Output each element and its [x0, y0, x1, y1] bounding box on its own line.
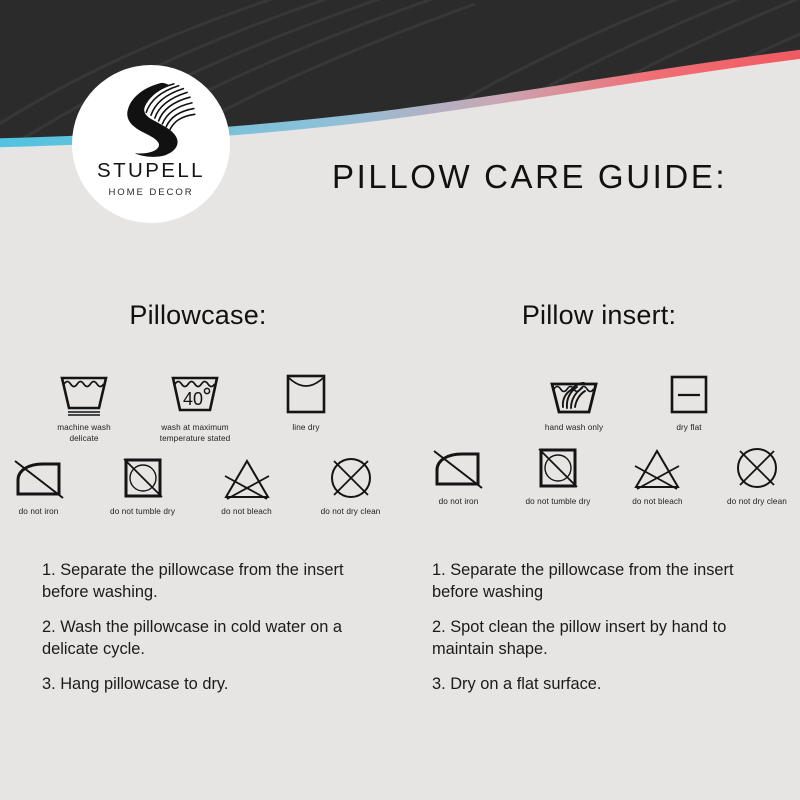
line-dry-icon: line dry: [267, 372, 345, 434]
do-not-tumble-dry-icon: do not tumble dry: [515, 446, 601, 508]
do-not-iron-icon: do not iron: [422, 446, 495, 508]
do-not-iron-glyph: [13, 456, 65, 500]
do-not-bleach-glyph: [633, 446, 681, 490]
list-item: 3. Hang pillowcase to dry.: [42, 674, 392, 696]
pillow-insert-icon-row-1: hand wash only dry flat: [400, 372, 800, 434]
do-not-bleach-caption: do not bleach: [221, 507, 271, 518]
machine-wash-delicate-icon: machine washdelicate: [45, 372, 123, 444]
list-item: 3. Dry on a flat surface.: [432, 674, 772, 696]
brand-name: STUPELL: [97, 161, 205, 182]
do-not-tumble-dry-caption: do not tumble dry: [110, 507, 175, 518]
do-not-tumble-dry-glyph: [121, 456, 165, 500]
hand-wash-only-icon: hand wash only: [528, 372, 620, 434]
pillowcase-section: Pillowcase: machine washdelicate: [0, 300, 400, 518]
wash-max-temperature-caption: wash at maximumtemperature stated: [160, 423, 231, 444]
pillowcase-icon-row-2: do not iron do not tumble dry: [0, 456, 400, 518]
dry-flat-caption: dry flat: [676, 423, 701, 434]
hand-wash-only-caption: hand wash only: [545, 423, 603, 434]
dry-flat-icon: dry flat: [650, 372, 728, 434]
pillowcase-steps-list: 1. Separate the pillowcase from the inse…: [42, 560, 392, 696]
wash-40-degree-glyph: 40: [169, 372, 221, 416]
brand-logo-badge: STUPELL HOME DECOR: [72, 65, 230, 223]
do-not-iron-caption: do not iron: [19, 507, 59, 518]
line-dry-caption: line dry: [292, 423, 319, 434]
pillowcase-heading: Pillowcase:: [0, 300, 400, 340]
dry-flat-glyph: [668, 372, 710, 416]
list-item: 2. Wash the pillowcase in cold water on …: [42, 617, 392, 661]
do-not-dry-clean-glyph: [328, 456, 374, 500]
hand-wash-only-glyph: [548, 372, 600, 416]
do-not-dry-clean-icon: do not dry clean: [714, 446, 800, 508]
do-not-dry-clean-icon: do not dry clean: [305, 456, 396, 518]
pillow-insert-heading: Pillow insert:: [400, 300, 800, 340]
do-not-iron-glyph: [432, 446, 484, 490]
do-not-iron-caption: do not iron: [439, 497, 479, 508]
pillowcase-icon-row-1: machine washdelicate 40 wash at maximumt…: [0, 372, 400, 444]
list-item: 1. Separate the pillowcase from the inse…: [42, 560, 392, 604]
do-not-dry-clean-caption: do not dry clean: [321, 507, 381, 518]
do-not-tumble-dry-icon: do not tumble dry: [97, 456, 188, 518]
do-not-bleach-glyph: [223, 456, 271, 500]
pillow-care-guide-page: STUPELL HOME DECOR PILLOW CARE GUIDE: Pi…: [0, 0, 800, 800]
do-not-bleach-caption: do not bleach: [632, 497, 682, 508]
do-not-bleach-icon: do not bleach: [621, 446, 694, 508]
machine-wash-delicate-caption: machine washdelicate: [57, 423, 111, 444]
do-not-tumble-dry-caption: do not tumble dry: [525, 497, 590, 508]
do-not-iron-icon: do not iron: [0, 456, 77, 518]
list-item: 2. Spot clean the pillow insert by hand …: [432, 617, 772, 661]
do-not-dry-clean-glyph: [734, 446, 780, 490]
brand-tagline: HOME DECOR: [108, 188, 193, 198]
do-not-dry-clean-caption: do not dry clean: [727, 497, 787, 508]
pillow-insert-icon-row-2: do not iron do not tumble dry: [400, 446, 800, 508]
machine-wash-delicate-glyph: [58, 372, 110, 416]
do-not-bleach-icon: do not bleach: [208, 456, 285, 518]
list-item: 1. Separate the pillowcase from the inse…: [432, 560, 772, 604]
stupell-swoosh-logo-icon: [103, 81, 199, 159]
pillow-insert-steps-list: 1. Separate the pillowcase from the inse…: [432, 560, 772, 696]
pillow-insert-section: Pillow insert:: [400, 300, 800, 507]
line-dry-glyph: [284, 372, 328, 416]
wash-max-temperature-40-icon: 40 wash at maximumtemperature stated: [149, 372, 241, 444]
svg-text:40: 40: [183, 389, 203, 409]
do-not-tumble-dry-glyph: [536, 446, 580, 490]
page-title: PILLOW CARE GUIDE:: [332, 158, 727, 196]
